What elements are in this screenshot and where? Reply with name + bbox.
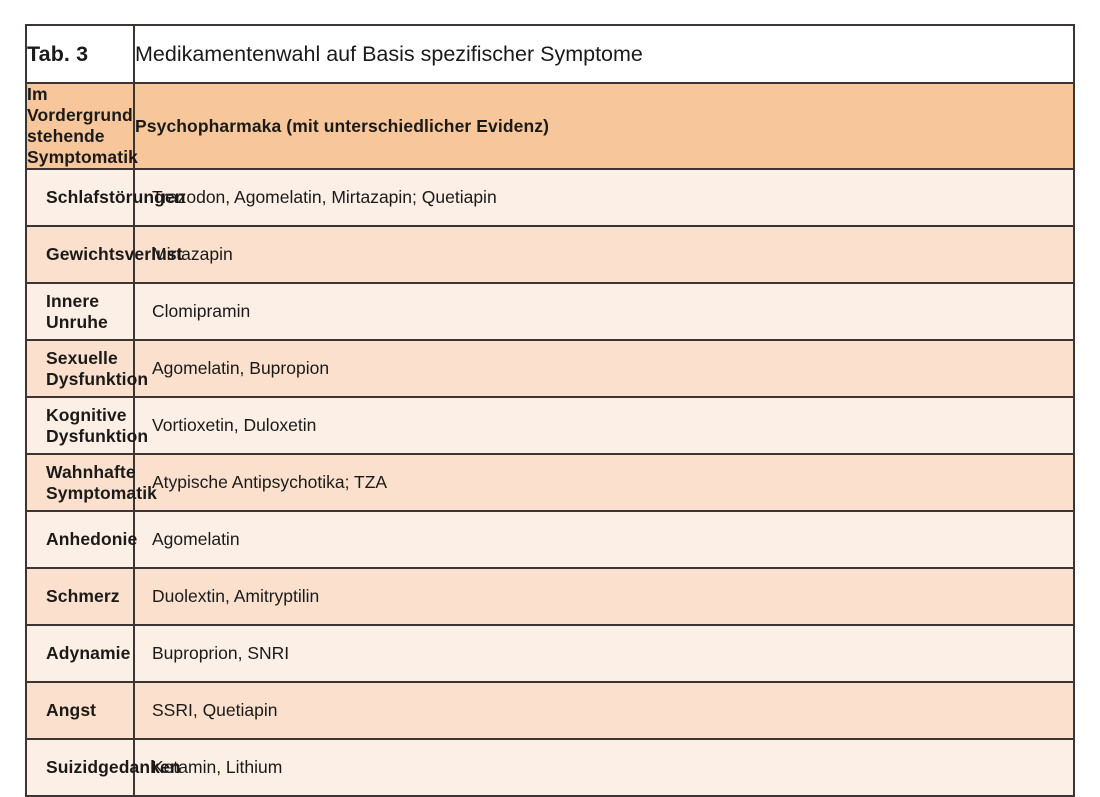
- cell-medication: Vortioxetin, Duloxetin: [134, 397, 1074, 454]
- cell-symptom: Angst: [26, 682, 134, 739]
- cell-symptom: Gewichtsverlust: [26, 226, 134, 283]
- cell-symptom: Sexuelle Dysfunktion: [26, 340, 134, 397]
- cell-symptom: Kognitive Dysfunktion: [26, 397, 134, 454]
- table-title: Medikamentenwahl auf Basis spezifischer …: [134, 25, 1074, 83]
- cell-medication: Atypische Antipsychotika; TZA: [134, 454, 1074, 511]
- cell-medication: Clomipramin: [134, 283, 1074, 340]
- cell-symptom: Anhedonie: [26, 511, 134, 568]
- table-number-label: Tab. 3: [26, 25, 134, 83]
- cell-medication: Agomelatin: [134, 511, 1074, 568]
- medication-selection-table: Tab. 3 Medikamentenwahl auf Basis spezif…: [25, 24, 1075, 797]
- column-header-symptom: Im Vordergrund stehende Symptomatik: [26, 83, 134, 169]
- cell-symptom: Wahnhafte Symptomatik: [26, 454, 134, 511]
- table-row: Anhedonie Agomelatin: [26, 511, 1074, 568]
- table-row: Schmerz Duolextin, Amitryptilin: [26, 568, 1074, 625]
- cell-symptom: Adynamie: [26, 625, 134, 682]
- column-header-medication: Psychopharmaka (mit unterschiedlicher Ev…: [134, 83, 1074, 169]
- table-row: Kognitive Dysfunktion Vortioxetin, Dulox…: [26, 397, 1074, 454]
- cell-medication: Agomelatin, Bupropion: [134, 340, 1074, 397]
- table-row: Wahnhafte Symptomatik Atypische Antipsyc…: [26, 454, 1074, 511]
- table-row: Innere Unruhe Clomipramin: [26, 283, 1074, 340]
- cell-symptom: Schmerz: [26, 568, 134, 625]
- cell-symptom: Schlafstörungen: [26, 169, 134, 226]
- table-caption-row: Tab. 3 Medikamentenwahl auf Basis spezif…: [26, 25, 1074, 83]
- cell-medication: Ketamin, Lithium: [134, 739, 1074, 796]
- table-row: Gewichtsverlust Mirtazapin: [26, 226, 1074, 283]
- cell-symptom: Suizidgedanken: [26, 739, 134, 796]
- cell-medication: Duolextin, Amitryptilin: [134, 568, 1074, 625]
- cell-symptom: Innere Unruhe: [26, 283, 134, 340]
- cell-medication: SSRI, Quetiapin: [134, 682, 1074, 739]
- cell-medication: Buproprion, SNRI: [134, 625, 1074, 682]
- table-row: Angst SSRI, Quetiapin: [26, 682, 1074, 739]
- cell-medication: Trazodon, Agomelatin, Mirtazapin; Quetia…: [134, 169, 1074, 226]
- table-row: Sexuelle Dysfunktion Agomelatin, Bupropi…: [26, 340, 1074, 397]
- table-header-row: Im Vordergrund stehende Symptomatik Psyc…: [26, 83, 1074, 169]
- table-container: Tab. 3 Medikamentenwahl auf Basis spezif…: [25, 24, 1075, 748]
- table-row: Adynamie Buproprion, SNRI: [26, 625, 1074, 682]
- cell-medication: Mirtazapin: [134, 226, 1074, 283]
- table-row: Schlafstörungen Trazodon, Agomelatin, Mi…: [26, 169, 1074, 226]
- table-body: Tab. 3 Medikamentenwahl auf Basis spezif…: [26, 25, 1074, 796]
- table-row: Suizidgedanken Ketamin, Lithium: [26, 739, 1074, 796]
